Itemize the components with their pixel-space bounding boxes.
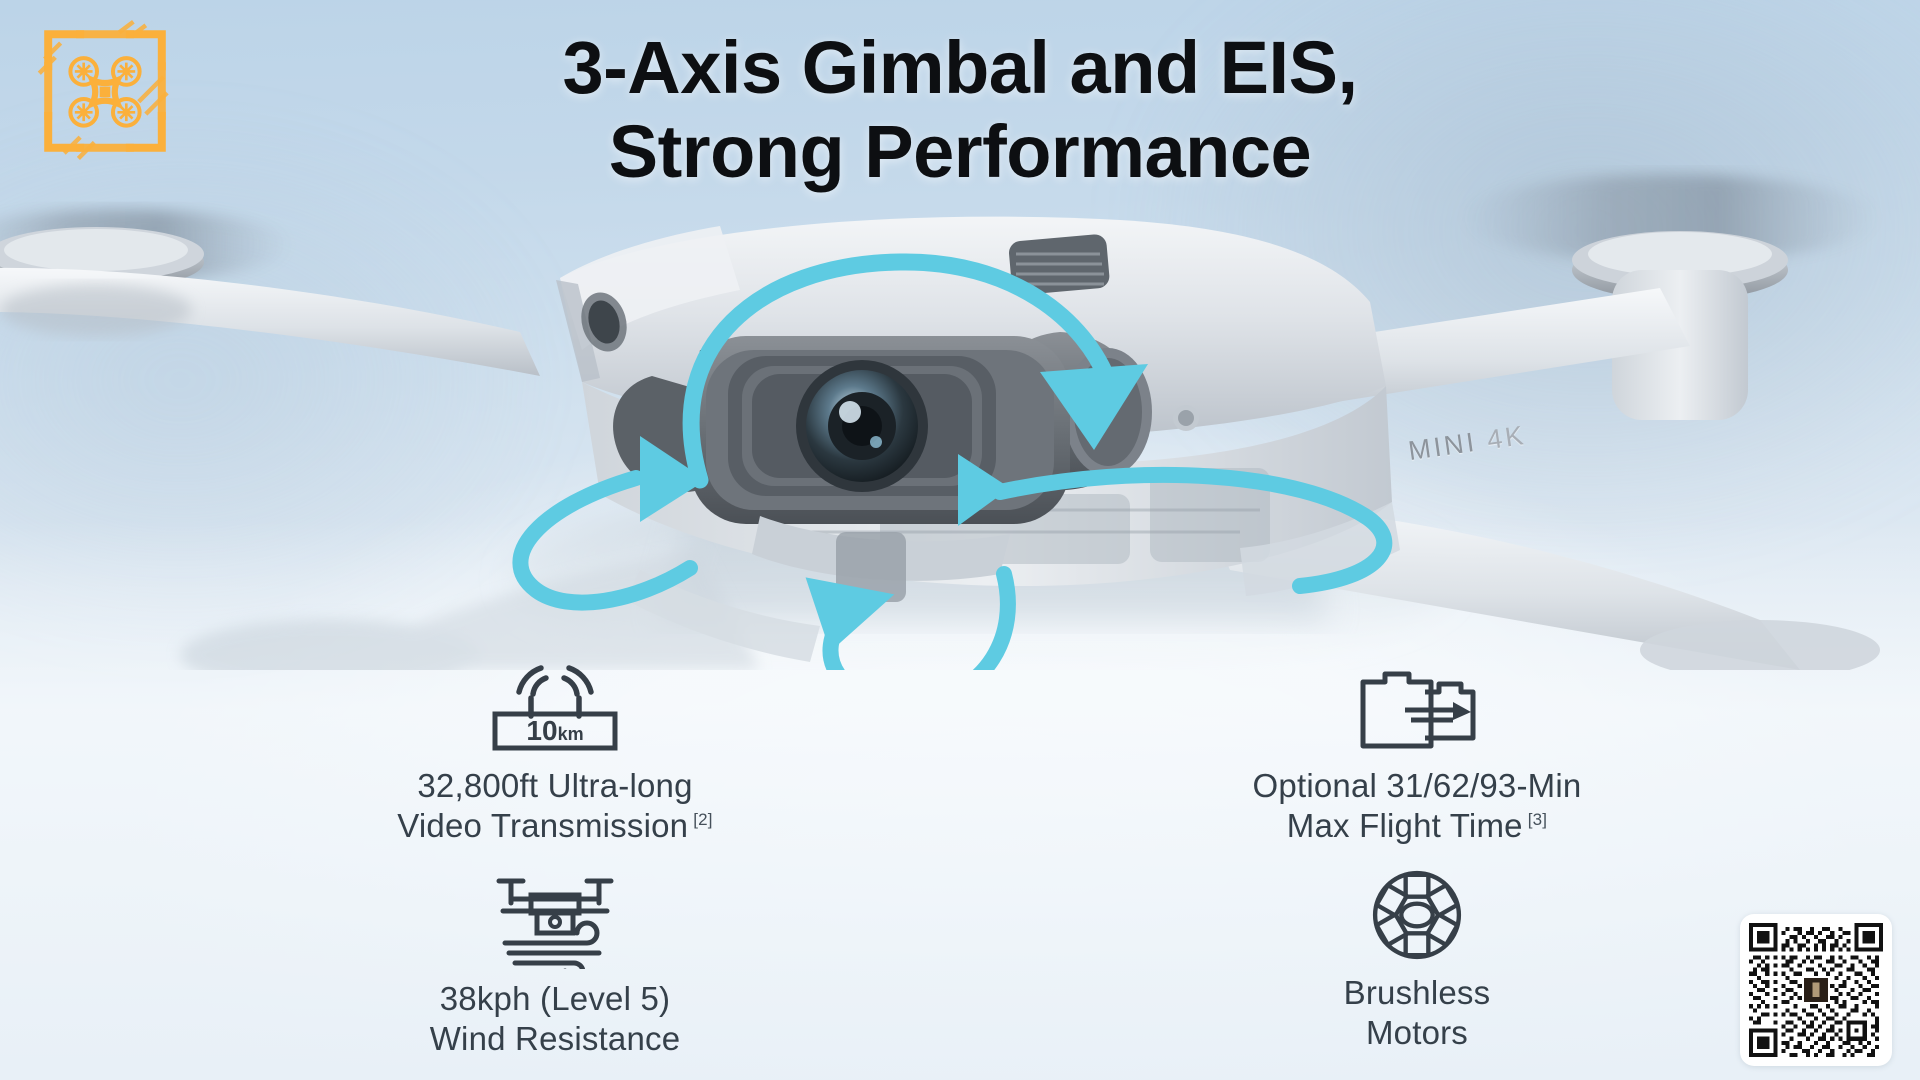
feature-brushless-motors: Brushless Motors bbox=[1012, 867, 1822, 1054]
feature-transmission-line2: Video Transmission bbox=[397, 807, 688, 844]
battery-swap-icon bbox=[1341, 660, 1493, 756]
feature-wind-resistance-line2: Wind Resistance bbox=[430, 1020, 681, 1057]
product-model-suffix: 4K bbox=[1485, 420, 1528, 455]
drone-wind-icon bbox=[469, 873, 641, 969]
feature-flight-time-footnote: [3] bbox=[1528, 810, 1548, 829]
feature-wind-resistance-label: 38kph (Level 5) Wind Resistance bbox=[430, 979, 681, 1060]
page-title-line-1: 3-Axis Gimbal and EIS, bbox=[562, 26, 1357, 109]
feature-transmission-label: 32,800ft Ultra-long Video Transmission[2… bbox=[397, 766, 712, 847]
feature-flight-time-line2: Max Flight Time bbox=[1287, 807, 1523, 844]
feature-wind-resistance-line1: 38kph (Level 5) bbox=[440, 980, 670, 1017]
feature-wind-resistance: 38kph (Level 5) Wind Resistance bbox=[150, 873, 960, 1060]
motor-stator-icon bbox=[1362, 867, 1472, 963]
feature-brushless-motors-label: Brushless Motors bbox=[1344, 973, 1491, 1054]
feature-grid: 10km 32,800ft Ultra-long Video Transmiss… bbox=[150, 660, 1770, 1053]
product-hero-image: MINI 4K bbox=[0, 150, 1920, 670]
qr-code[interactable] bbox=[1740, 914, 1892, 1066]
feature-flight-time-label: Optional 31/62/93-Min Max Flight Time[3] bbox=[1253, 766, 1582, 847]
feature-transmission-line1: 32,800ft Ultra-long bbox=[417, 767, 692, 804]
feature-transmission-footnote: [2] bbox=[693, 810, 713, 829]
feature-flight-time: Optional 31/62/93-Min Max Flight Time[3] bbox=[1012, 660, 1822, 847]
antenna-distance-value: 10km bbox=[526, 715, 583, 746]
feature-brushless-motors-line1: Brushless bbox=[1344, 974, 1491, 1011]
antenna-10km-icon: 10km bbox=[479, 660, 631, 756]
feature-transmission: 10km 32,800ft Ultra-long Video Transmiss… bbox=[150, 660, 960, 847]
feature-brushless-motors-line2: Motors bbox=[1366, 1014, 1468, 1051]
feature-flight-time-line1: Optional 31/62/93-Min bbox=[1253, 767, 1582, 804]
